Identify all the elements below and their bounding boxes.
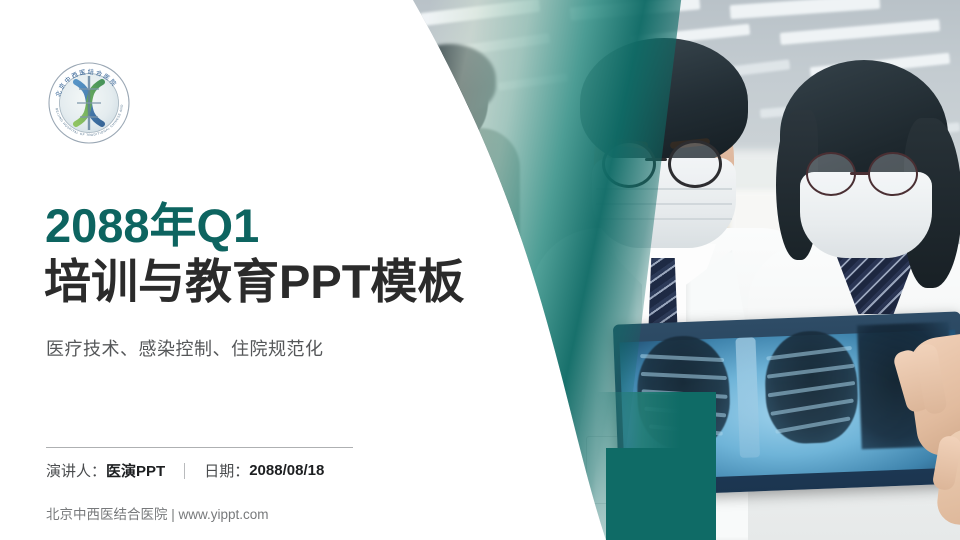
eyeglass-bridge xyxy=(645,158,667,161)
presenter-label: 演讲人： xyxy=(46,460,106,481)
presenter-value: 医演PPT xyxy=(106,460,165,481)
hero-photo-image xyxy=(380,0,960,540)
date-label: 日期： xyxy=(204,460,249,481)
mask-pleat xyxy=(596,218,732,220)
slide-meta: 演讲人： 医演PPT 日期： 2088/08/18 xyxy=(46,460,324,481)
doctor-center-hair xyxy=(580,38,748,166)
eyeglass-bridge xyxy=(850,172,870,175)
date-value: 2088/08/18 xyxy=(249,462,324,479)
doctor-right-eyeglasses xyxy=(806,152,856,196)
person-left-body xyxy=(380,128,520,540)
divider-line xyxy=(46,447,353,448)
slide-year-title: 2088年Q1 xyxy=(45,202,259,249)
doctor-center-eyeglasses xyxy=(602,140,656,188)
presentation-slide: 北京中西医结合医院 BEIJING HOSPITAL OF TRADITIONA… xyxy=(0,0,960,540)
doctor-center-eyeglasses xyxy=(668,140,722,188)
slide-footer: 北京中西医结合医院 | www.yippt.com xyxy=(46,503,269,523)
meta-separator xyxy=(184,463,185,479)
mask-pleat xyxy=(596,188,732,190)
slide-main-title: 培训与教育PPT模板 xyxy=(44,256,464,309)
hospital-logo: 北京中西医结合医院 BEIJING HOSPITAL OF TRADITIONA… xyxy=(46,58,132,148)
mask-pleat xyxy=(596,203,732,205)
doctor-right-eyeglasses xyxy=(868,152,918,196)
hospital-seal-icon: 北京中西医结合医院 BEIJING HOSPITAL OF TRADITIONA… xyxy=(46,58,132,148)
slide-subtitle: 医疗技术、感染控制、住院规范化 xyxy=(46,335,324,361)
person-left-hair xyxy=(404,44,496,114)
